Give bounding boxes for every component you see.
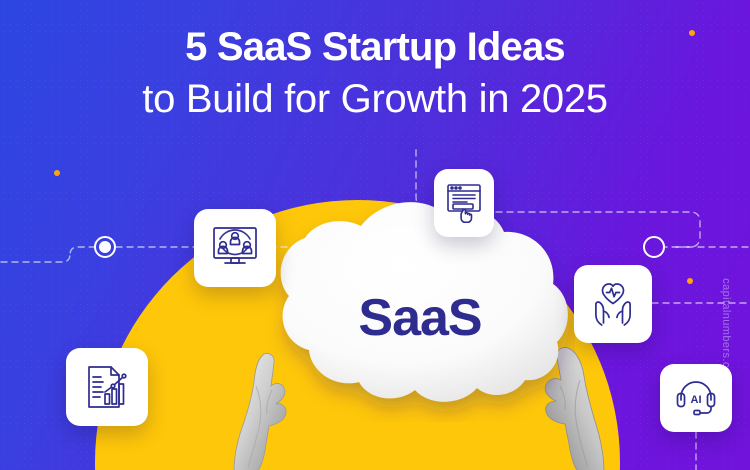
- cloud-shape: SaaS: [265, 192, 575, 422]
- team-collaboration-icon: [211, 225, 259, 271]
- ai-support-headset-icon: AI: [675, 378, 717, 418]
- accent-dot-1: [54, 170, 60, 176]
- ai-icon-label: AI: [691, 394, 702, 406]
- saas-banner: 5 SaaS Startup Ideas to Build for Growth…: [0, 0, 750, 470]
- accent-dot-3: [687, 278, 693, 284]
- icon-card-click-cta[interactable]: [434, 169, 494, 237]
- cloud-label: SaaS: [265, 288, 575, 348]
- connector-node-right: [643, 236, 665, 258]
- icon-card-team-collaboration[interactable]: [194, 209, 276, 287]
- watermark: capitalnumbers.com: [720, 266, 732, 396]
- headline-line-1: 5 SaaS Startup Ideas: [0, 24, 750, 71]
- icon-card-healthcare[interactable]: [574, 265, 652, 343]
- analytics-report-icon: [83, 364, 131, 410]
- connector-node-left: [94, 236, 116, 258]
- click-cta-icon: [445, 183, 483, 223]
- icon-card-analytics-report[interactable]: [66, 348, 148, 426]
- headline-line-2: to Build for Growth in 2025: [0, 75, 750, 123]
- headline: 5 SaaS Startup Ideas to Build for Growth…: [0, 24, 750, 123]
- healthcare-icon: [589, 281, 637, 327]
